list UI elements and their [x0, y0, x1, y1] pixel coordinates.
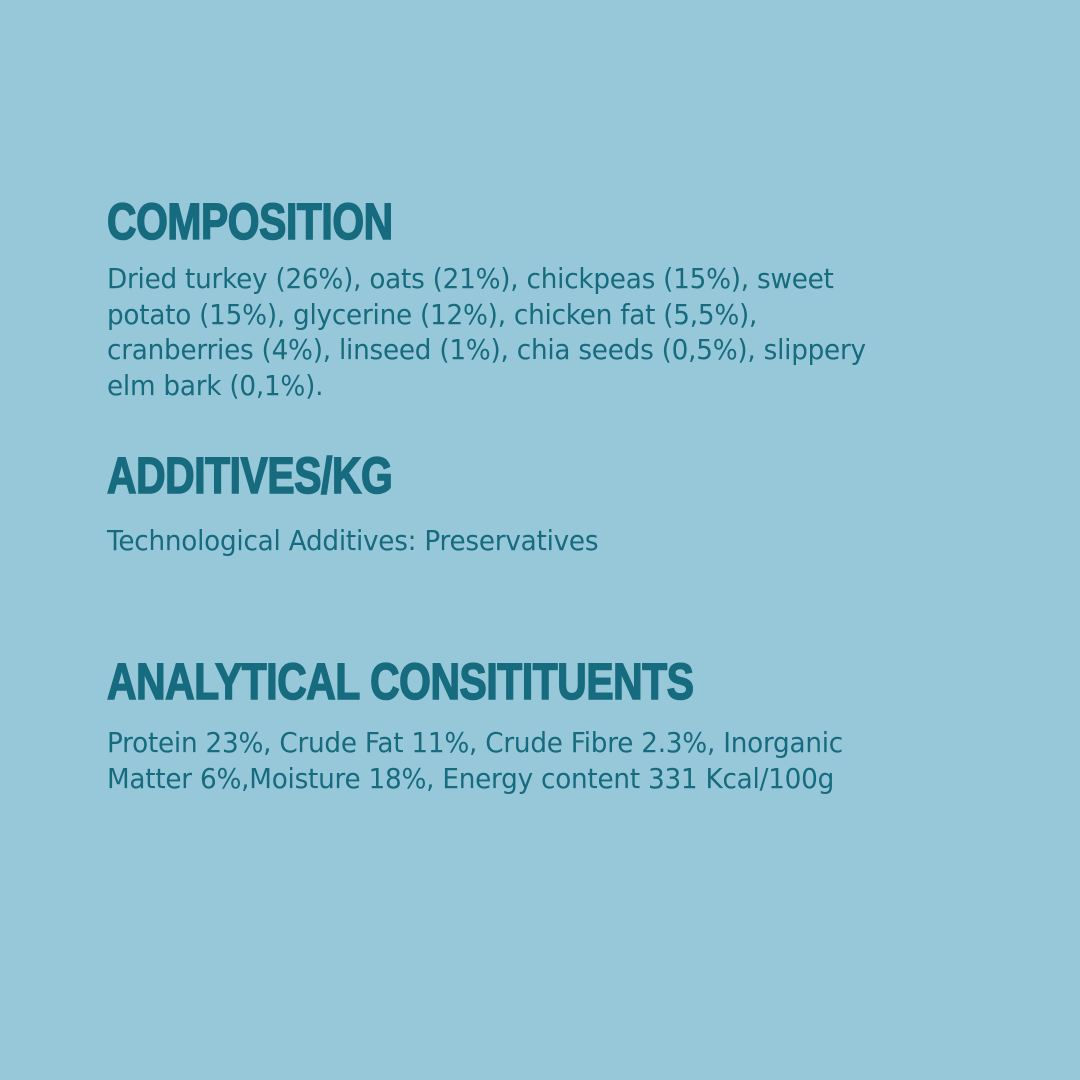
- additives-body-text: Technological Additives: Preservatives: [107, 524, 900, 560]
- analytical-constituents-body-text: Protein 23%, Crude Fat 11%, Crude Fibre …: [107, 726, 914, 797]
- additives-heading: ADDITIVES/KG: [107, 450, 771, 502]
- composition-body-text: Dried turkey (26%), oats (21%), chickpea…: [107, 262, 909, 404]
- composition-heading: COMPOSITION: [107, 196, 771, 248]
- analytical-constituents-section: ANALYTICAL CONSITITUENTS Protein 23%, Cr…: [107, 656, 937, 797]
- additives-section: ADDITIVES/KG Technological Additives: Pr…: [107, 450, 937, 560]
- product-label-panel: COMPOSITION Dried turkey (26%), oats (21…: [0, 0, 1080, 1080]
- analytical-constituents-heading: ANALYTICAL CONSITITUENTS: [107, 656, 771, 708]
- composition-section: COMPOSITION Dried turkey (26%), oats (21…: [107, 196, 937, 404]
